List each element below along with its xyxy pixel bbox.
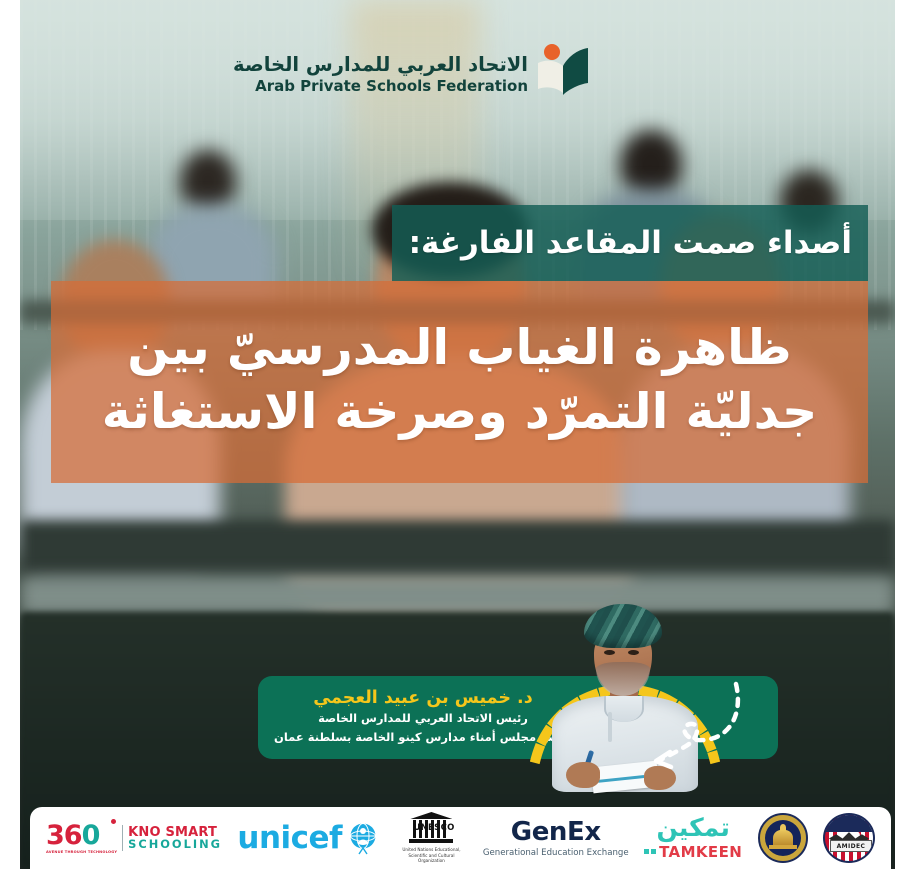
logo-amidec-crest: AMIDEC [823,811,875,865]
logo-unicef: unicef [237,811,380,865]
speaker-role-line-2: رئيس مجلس أمناء مدارس كينو الخاصة بسلطنة… [274,729,572,746]
subheadline-text: أصداء صمت المقاعد الفارغة: [406,225,852,261]
speaker-role-line-1: رئيس الاتحاد العربي للمدارس الخاصة [318,710,528,727]
headline-line-1: ظاهرة الغياب المدرسيّ بين [127,318,791,378]
logo-tamkeen-arabic: تمكين [656,815,729,841]
amidec-ribbon-label: AMIDEC [830,840,872,852]
subheadline-band: أصداء صمت المقاعد الفارغة: [392,205,868,281]
logo-360-dot [111,819,116,824]
tamkeen-squares-icon [644,849,656,854]
speaker-card: د. خميس بن عبيد العجمي رئيس الاتحاد العر… [258,676,588,759]
amidec-crest-icon: AMIDEC [823,813,875,863]
logo-kno-line2: SCHOOLING [128,839,222,851]
brand-name-arabic: الاتحاد العربي للمدارس الخاصة [233,54,528,76]
unicef-globe-icon [346,821,380,855]
logo-tamkeen-english: TAMKEEN [659,843,742,861]
logo-360-tagline: AVENUE THROUGH TECHNOLOGY [46,850,117,854]
poster-canvas: الاتحاد العربي للمدارس الخاصة Arab Priva… [0,0,907,869]
headline-band: ظاهرة الغياب المدرسيّ بين جدليّة التمرّد… [51,281,868,483]
logo-kno-smart-schooling: 360 AVENUE THROUGH TECHNOLOGY KNO SMART … [46,811,222,865]
logo-360-number: 360 [46,822,99,849]
logo-unesco: UNESCO United Nations Educational, Scien… [395,811,467,865]
brand-logo-text: الاتحاد العربي للمدارس الخاصة Arab Priva… [233,54,528,95]
brand-name-english: Arab Private Schools Federation [233,78,528,95]
logo-tamkeen: تمكين TAMKEEN [644,811,742,865]
unesco-temple-icon: UNESCO [408,812,454,846]
university-seal-icon [758,813,808,863]
desk-front [20,576,895,616]
speaker-name: د. خميس بن عبيد العجمي [313,688,532,708]
headline-line-2: جدليّة التمرّد وصرخة الاستغاثة [102,382,818,442]
logo-unesco-wordmark: UNESCO [413,823,449,833]
logo-genex-wordmark: GenEx [511,819,601,845]
logo-university-seal [758,811,808,865]
logo-genex-subtitle: Generational Education Exchange [483,848,629,858]
desk-mid [20,520,895,580]
brand-logo: الاتحاد العربي للمدارس الخاصة Arab Priva… [332,38,590,110]
logo-360-divider [122,825,123,851]
logo-360-mark: 360 AVENUE THROUGH TECHNOLOGY [46,822,117,854]
logo-genex: GenEx Generational Education Exchange [483,811,629,865]
open-book-logo-icon [536,43,590,105]
logo-unesco-subtitle: United Nations Educational, Scientific a… [395,847,467,864]
logo-unicef-wordmark: unicef [237,823,342,854]
partner-logos-bar: 360 AVENUE THROUGH TECHNOLOGY KNO SMART … [30,807,891,869]
